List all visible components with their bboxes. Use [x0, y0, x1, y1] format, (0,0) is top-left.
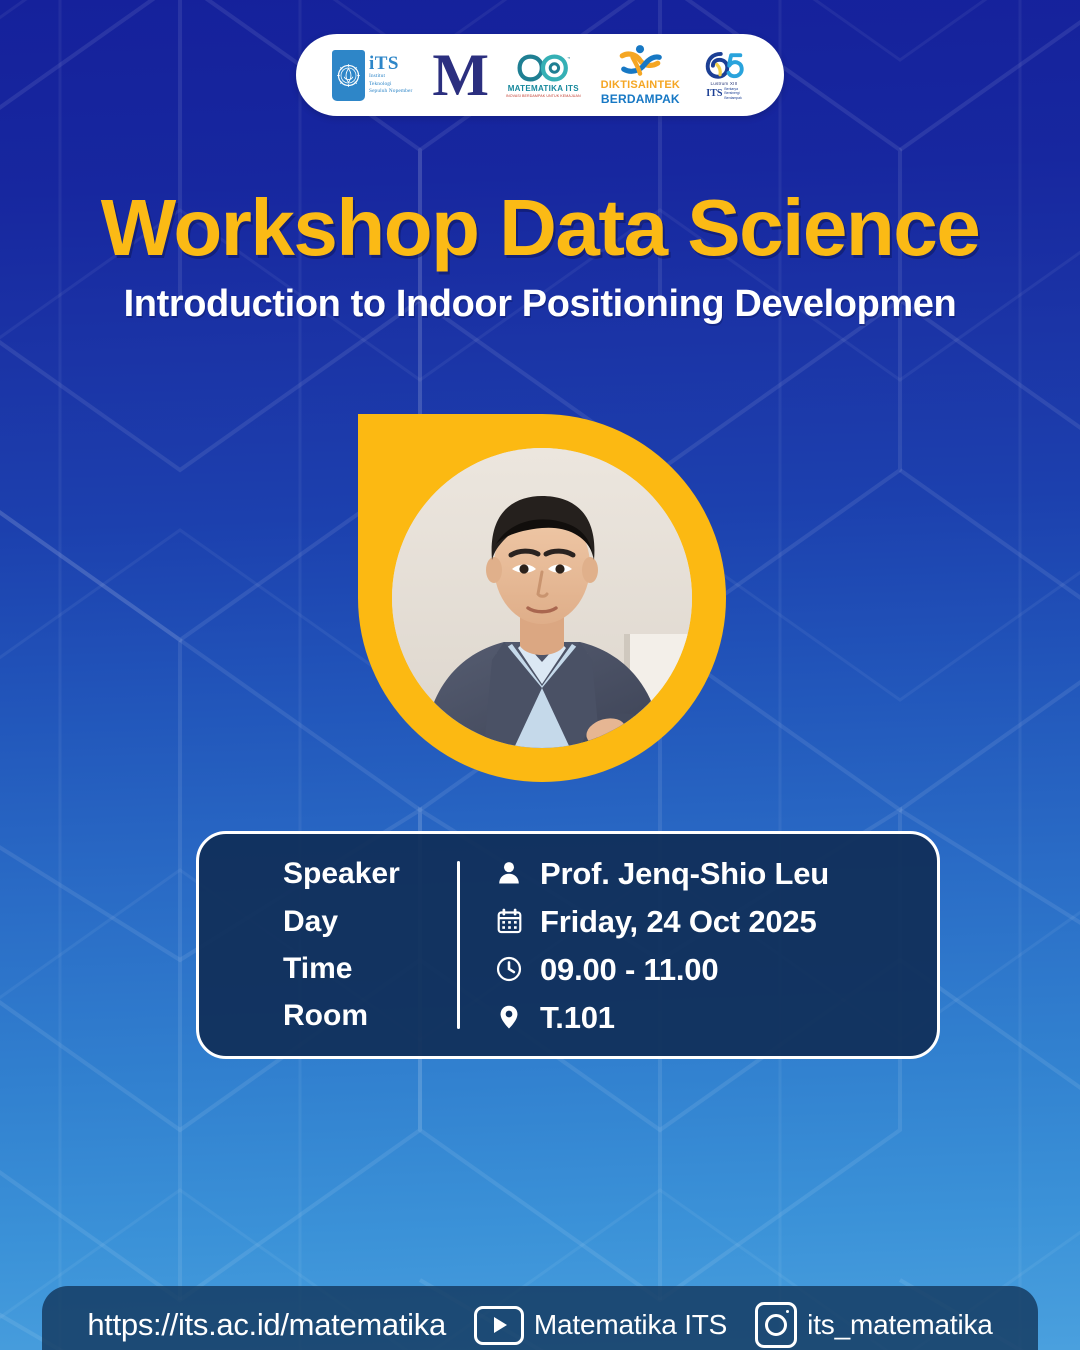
event-details-values: Prof. Jenq-Shio Leu — [460, 852, 829, 1038]
diktisaintek-line1: DIKTISAINTEK — [601, 79, 680, 91]
its-shield-icon — [332, 50, 365, 101]
infinity-60-icon: ™ — [516, 53, 570, 83]
label-speaker: Speaker — [283, 853, 457, 894]
diktisaintek-logo: DIKTISAINTEK BERDAMPAK — [601, 44, 680, 106]
label-day: Day — [283, 901, 457, 942]
value-time: 09.00 - 11.00 — [540, 954, 718, 985]
speaker-photo-frame — [358, 414, 726, 782]
matematika-m-logo: M — [432, 45, 486, 105]
youtube-link[interactable]: Matematika ITS — [474, 1306, 727, 1345]
lustrum-its-text: ITS — [706, 88, 722, 99]
youtube-handle[interactable]: Matematika ITS — [534, 1309, 727, 1341]
its-acronym: iTS — [369, 54, 412, 73]
poster-title: Workshop Data Science — [0, 188, 1080, 268]
lustrum-caption: Lustrum XIII — [710, 81, 737, 86]
its-line3: Sepuluh Nopember — [369, 88, 412, 96]
partner-logo-bar: iTS Institut Teknologi Sepuluh Nopember … — [296, 34, 784, 116]
label-room: Room — [283, 995, 457, 1036]
event-details-card: Speaker Day Time Room Prof. Jenq-Shio Le… — [196, 831, 940, 1059]
lustrum-tagline3: Berdampak — [724, 96, 741, 100]
detail-row-day: Friday, 24 Oct 2025 — [494, 900, 829, 942]
lustrum-65-logo: Lustrum XIII ITS Berkarya Bersinergi Ber… — [700, 50, 748, 100]
person-icon — [494, 858, 524, 888]
poster-canvas: iTS Institut Teknologi Sepuluh Nopember … — [0, 0, 1080, 1350]
youtube-icon[interactable] — [474, 1306, 524, 1345]
location-icon — [494, 1002, 524, 1032]
diktisaintek-line2: BERDAMPAK — [601, 92, 680, 106]
poster-subtitle: Introduction to Indoor Positioning Devel… — [0, 281, 1080, 329]
its-logo: iTS Institut Teknologi Sepuluh Nopember — [332, 50, 412, 101]
footer-bar: https://its.ac.id/matematika Matematika … — [42, 1286, 1038, 1350]
detail-row-room: T.101 — [494, 996, 829, 1038]
speaker-portrait — [392, 448, 692, 748]
its-line1: Institut — [369, 73, 412, 81]
its-line2: Teknologi — [369, 81, 412, 89]
diktisaintek-mark-icon — [617, 44, 663, 78]
value-speaker: Prof. Jenq-Shio Leu — [540, 858, 829, 889]
instagram-icon[interactable] — [755, 1302, 797, 1348]
label-time: Time — [283, 948, 457, 989]
event-details-labels: Speaker Day Time Room — [199, 853, 457, 1037]
matematika-60-sub: INOVASI BERDAMPAK UNTUK KEMAJUAN — [506, 94, 581, 98]
detail-row-time: 09.00 - 11.00 — [494, 948, 829, 990]
instagram-handle[interactable]: its_matematika — [807, 1309, 993, 1341]
value-room: T.101 — [540, 1002, 615, 1033]
instagram-link[interactable]: its_matematika — [755, 1302, 993, 1348]
calendar-icon — [494, 906, 524, 936]
detail-row-speaker: Prof. Jenq-Shio Leu — [494, 852, 829, 894]
lustrum-65-mark-icon — [700, 50, 748, 80]
svg-text:™: ™ — [567, 56, 570, 61]
website-link[interactable]: https://its.ac.id/matematika — [87, 1307, 446, 1343]
matematika-60-logo: ™ MATEMATIKA ITS INOVASI BERDAMPAK UNTUK… — [506, 53, 581, 98]
value-day: Friday, 24 Oct 2025 — [540, 906, 817, 937]
matematika-60-label: MATEMATIKA ITS — [508, 84, 579, 93]
clock-icon — [494, 954, 524, 984]
